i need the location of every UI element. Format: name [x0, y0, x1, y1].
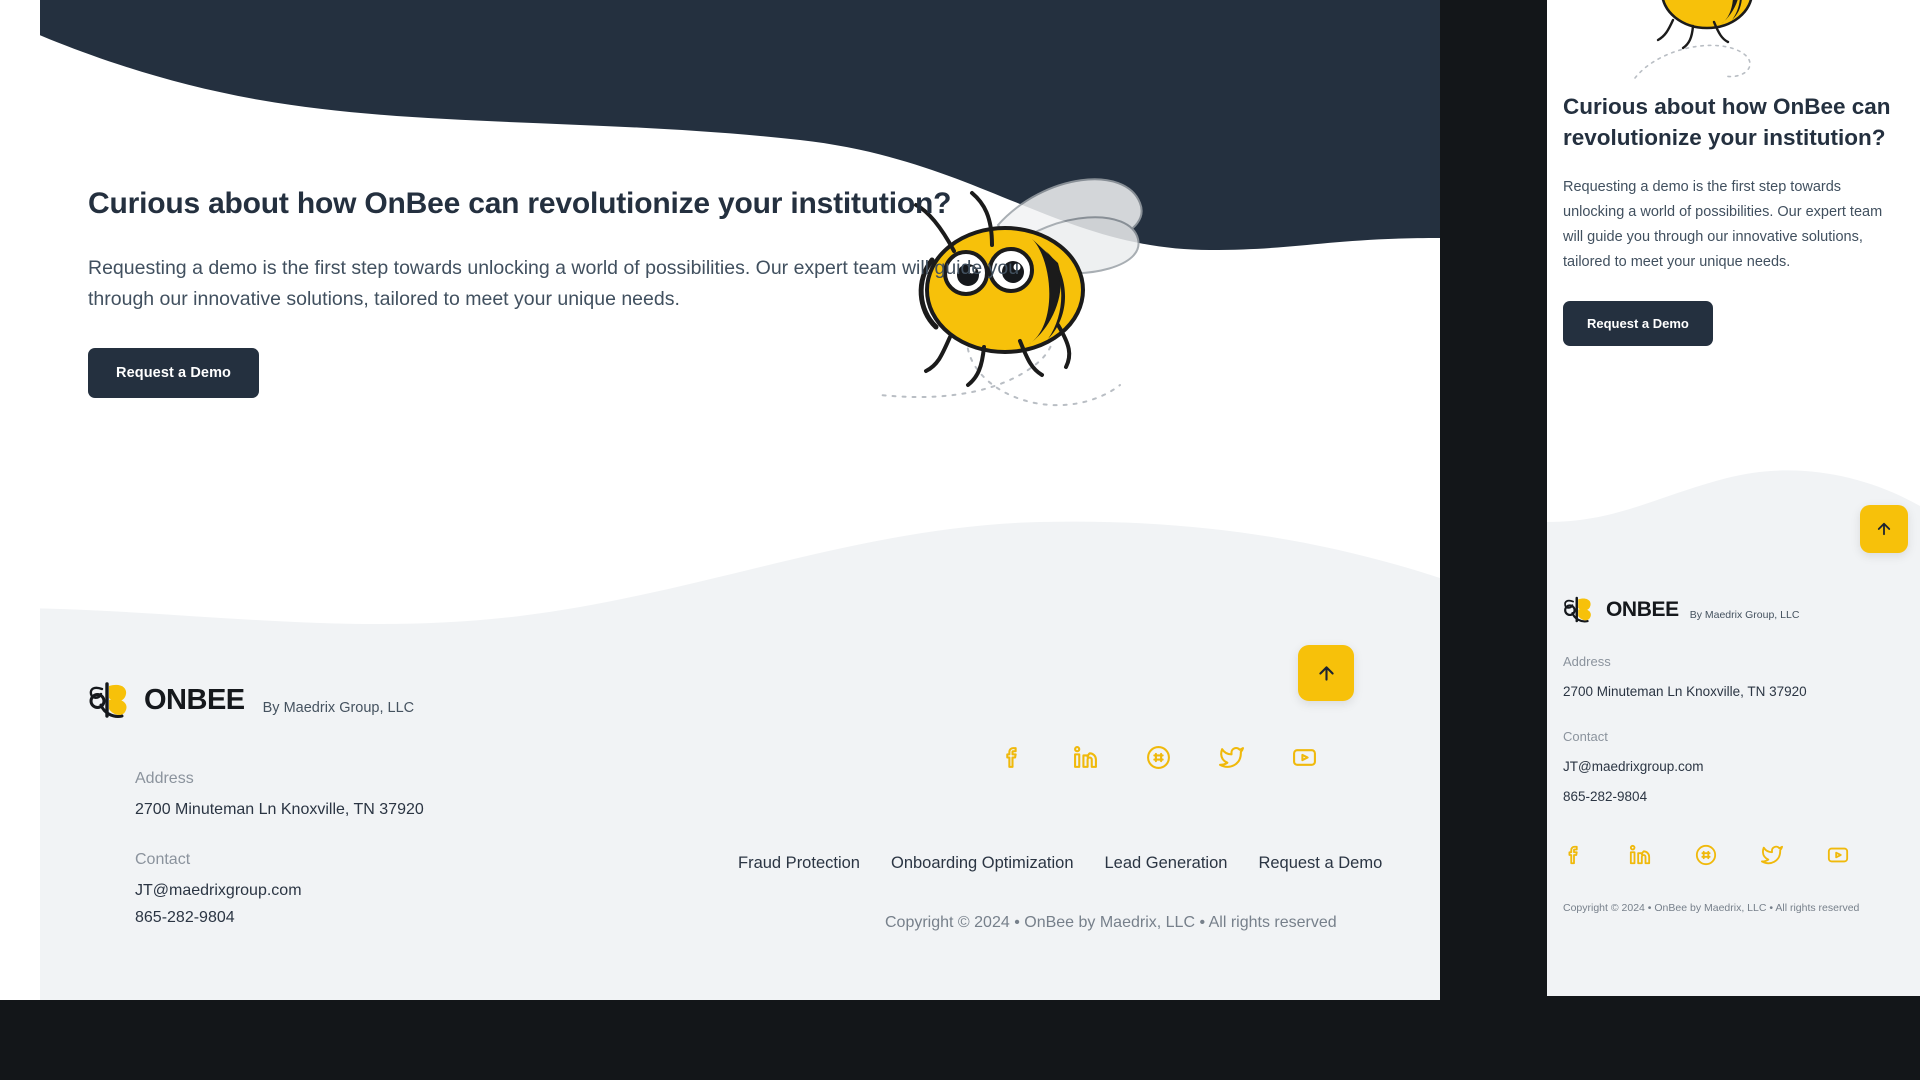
hero-heading: Curious about how OnBee can revolutioniz… [88, 185, 1088, 223]
slack-icon[interactable] [1695, 844, 1717, 866]
hero-section: Curious about how OnBee can revolutioniz… [88, 185, 1088, 398]
social-links [1000, 745, 1317, 770]
footer-nav-links: Fraud Protection Onboarding Optimization… [738, 854, 1382, 873]
youtube-icon[interactable] [1827, 844, 1849, 866]
mobile-brand-wordmark: ONBEE [1606, 598, 1679, 622]
mobile-contact-email[interactable]: JT@maedrixgroup.com [1563, 759, 1908, 774]
mobile-page-view: Curious about how OnBee can revolutioniz… [1547, 0, 1920, 996]
mobile-request-demo-button[interactable]: Request a Demo [1563, 301, 1713, 346]
mobile-contact-label: Contact [1563, 729, 1908, 744]
youtube-icon[interactable] [1292, 745, 1317, 770]
facebook-icon[interactable] [1000, 745, 1025, 770]
linkedin-icon[interactable] [1073, 745, 1098, 770]
mobile-hero-body: Requesting a demo is the first step towa… [1563, 175, 1903, 275]
arrow-up-icon [1875, 520, 1893, 538]
hero-body: Requesting a demo is the first step towa… [88, 253, 1038, 316]
bee-logo-icon [88, 680, 135, 720]
brand-byline: By Maedrix Group, LLC [263, 700, 415, 720]
page-left-margin [0, 0, 40, 1000]
facebook-icon[interactable] [1563, 844, 1585, 866]
viewport-gap-letterbox [1440, 0, 1547, 1080]
copyright-text: Copyright © 2024 • OnBee by Maedrix, LLC… [885, 914, 1337, 932]
nav-link-lead-generation[interactable]: Lead Generation [1105, 854, 1228, 873]
contact-label: Contact [135, 851, 424, 869]
footer-contact-block: Address 2700 Minuteman Ln Knoxville, TN … [135, 770, 424, 936]
desktop-page-view: Curious about how OnBee can revolutioniz… [0, 0, 1440, 1000]
mobile-footer: ONBEE By Maedrix Group, LLC Address 2700… [1563, 595, 1908, 914]
mobile-copyright-text: Copyright © 2024 • OnBee by Maedrix, LLC… [1563, 902, 1908, 914]
mobile-contact-phone[interactable]: 865-282-9804 [1563, 789, 1908, 804]
address-value: 2700 Minuteman Ln Knoxville, TN 37920 [135, 801, 424, 819]
mobile-address-value: 2700 Minuteman Ln Knoxville, TN 37920 [1563, 684, 1908, 699]
mobile-bottom-letterbox [1547, 996, 1920, 1080]
onbee-logo: ONBEE [88, 680, 245, 720]
mobile-brand-byline: By Maedrix Group, LLC [1690, 609, 1800, 624]
contact-email[interactable]: JT@maedrixgroup.com [135, 882, 424, 900]
mobile-address-label: Address [1563, 654, 1908, 669]
mobile-social-links [1563, 844, 1908, 866]
address-label: Address [135, 770, 424, 788]
twitter-icon[interactable] [1219, 745, 1244, 770]
mobile-onbee-logo: ONBEE [1563, 595, 1679, 624]
viewport-bottom-letterbox [0, 1000, 1440, 1080]
linkedin-icon[interactable] [1629, 844, 1651, 866]
mobile-bee-illustration [1617, 0, 1847, 80]
brand-wordmark: ONBEE [144, 684, 245, 717]
mobile-hero-heading: Curious about how OnBee can revolutioniz… [1563, 92, 1903, 153]
slack-icon[interactable] [1146, 745, 1171, 770]
scroll-to-top-button[interactable] [1298, 645, 1354, 701]
request-demo-button[interactable]: Request a Demo [88, 348, 259, 398]
mobile-footer-brand: ONBEE By Maedrix Group, LLC [1563, 595, 1908, 624]
bee-logo-icon [1563, 595, 1597, 624]
mobile-hero-section: Curious about how OnBee can revolutioniz… [1563, 92, 1903, 346]
footer-brand: ONBEE By Maedrix Group, LLC [88, 680, 414, 720]
nav-link-fraud-protection[interactable]: Fraud Protection [738, 854, 860, 873]
nav-link-onboarding-optimization[interactable]: Onboarding Optimization [891, 854, 1074, 873]
mobile-scroll-to-top-button[interactable] [1860, 505, 1908, 553]
nav-link-request-a-demo[interactable]: Request a Demo [1258, 854, 1382, 873]
twitter-icon[interactable] [1761, 844, 1783, 866]
contact-phone[interactable]: 865-282-9804 [135, 909, 424, 927]
arrow-up-icon [1316, 663, 1337, 684]
